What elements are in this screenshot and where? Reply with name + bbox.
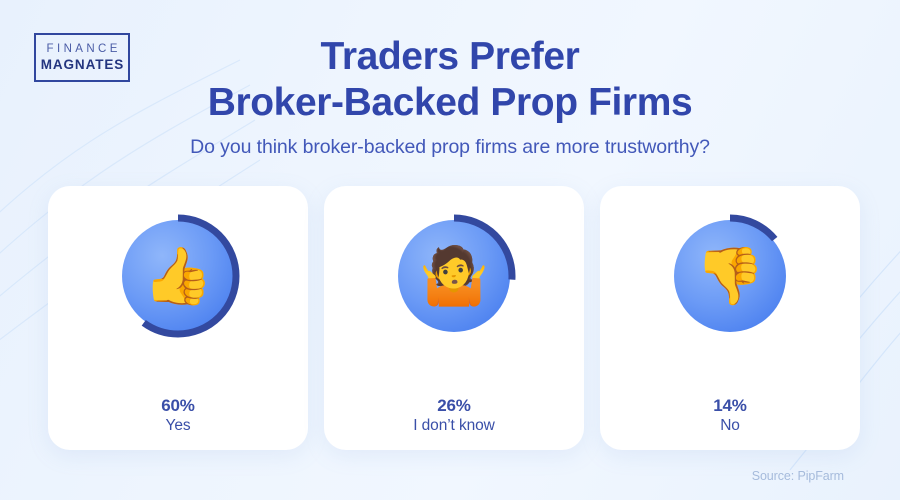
result-stat-dont-know: 26% I don’t know bbox=[413, 396, 495, 436]
result-percent-yes: 60% bbox=[161, 396, 194, 417]
result-percent-no: 14% bbox=[713, 396, 746, 417]
result-label-no: No bbox=[713, 417, 746, 436]
result-stat-yes: 60% Yes bbox=[161, 396, 194, 436]
result-card-no: 👎 14% No bbox=[600, 186, 860, 450]
thumbs-up-icon: 👍 bbox=[114, 212, 242, 340]
person-shrugging-icon: 🤷 bbox=[390, 212, 518, 340]
donut-chart-yes: 👍 bbox=[114, 212, 242, 340]
results-card-group: 👍 60% Yes bbox=[48, 186, 860, 450]
result-label-dont-know: I don’t know bbox=[413, 417, 495, 436]
page-title-line-2: Broker-Backed Prop Firms bbox=[208, 81, 693, 124]
source-attribution: Source: PipFarm bbox=[752, 469, 844, 483]
donut-chart-dont-know: 🤷 bbox=[390, 212, 518, 340]
thumbs-down-icon: 👎 bbox=[666, 212, 794, 340]
donut-chart-no: 👎 bbox=[666, 212, 794, 340]
result-card-dont-know: 🤷 26% I don’t know bbox=[324, 186, 584, 450]
page-subtitle: Do you think broker-backed prop firms ar… bbox=[0, 136, 900, 159]
result-stat-no: 14% No bbox=[713, 396, 746, 436]
page-title-line-1: Traders Prefer bbox=[321, 35, 580, 78]
page-title: Traders Prefer Broker-Backed Prop Firms bbox=[0, 34, 900, 125]
infographic-canvas: FINANCE MAGNATES Traders Prefer Broker-B… bbox=[0, 0, 900, 500]
result-card-yes: 👍 60% Yes bbox=[48, 186, 308, 450]
result-label-yes: Yes bbox=[161, 417, 194, 436]
result-percent-dont-know: 26% bbox=[413, 396, 495, 417]
